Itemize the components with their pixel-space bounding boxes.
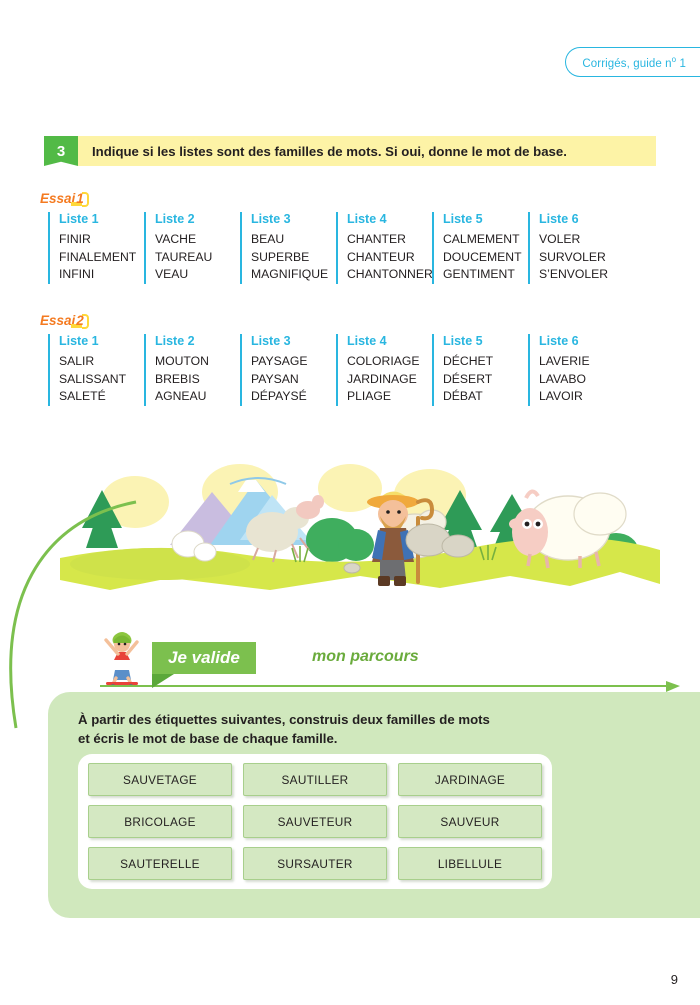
je-valide-title-ribbon: Je valide bbox=[152, 642, 256, 674]
word-list-column: Liste 4COLORIAGEJARDINAGEPLIAGE bbox=[336, 334, 432, 406]
panel-instruction: À partir des étiquettes suivantes, const… bbox=[78, 710, 598, 748]
word-list-column: Liste 2VACHETAUREAUVEAU bbox=[144, 212, 240, 284]
word-list-title: Liste 3 bbox=[251, 212, 336, 226]
word-lists-row: Liste 1SALIRSALISSANTSALETÉListe 2MOUTON… bbox=[40, 334, 660, 406]
je-valide-banner: Je valide mon parcours bbox=[100, 628, 680, 686]
word-list-item: VACHE bbox=[155, 231, 240, 249]
exercise-instruction-text: Indique si les listes sont des familles … bbox=[92, 144, 567, 159]
word-list-item: LAVERIE bbox=[539, 353, 624, 371]
panel-instruction-line1: À partir des étiquettes suivantes, const… bbox=[78, 710, 598, 729]
word-list-title: Liste 2 bbox=[155, 334, 240, 348]
exercise-instruction-bar: Indique si les listes sont des familles … bbox=[78, 136, 656, 166]
word-list-item: MAGNIFIQUE bbox=[251, 266, 336, 284]
word-list-title: Liste 4 bbox=[347, 212, 432, 226]
word-list-item: CALMEMENT bbox=[443, 231, 528, 249]
word-list-title: Liste 5 bbox=[443, 212, 528, 226]
page-number: 9 bbox=[671, 972, 678, 987]
word-list-item: PAYSAN bbox=[251, 371, 336, 389]
word-card[interactable]: SAUVETAGE bbox=[88, 763, 232, 796]
word-list-title: Liste 6 bbox=[539, 334, 624, 348]
word-list-column: Liste 3PAYSAGEPAYSANDÉPAYSÉ bbox=[240, 334, 336, 406]
word-list-title: Liste 6 bbox=[539, 212, 624, 226]
word-list-title: Liste 1 bbox=[59, 334, 144, 348]
word-list-item: BEAU bbox=[251, 231, 336, 249]
word-list-item: LAVOIR bbox=[539, 388, 624, 406]
word-list-item: DÉPAYSÉ bbox=[251, 388, 336, 406]
word-list-item: SALISSANT bbox=[59, 371, 144, 389]
shepherd-sheep-illustration bbox=[60, 440, 660, 590]
word-card[interactable]: SURSAUTER bbox=[243, 847, 387, 880]
word-list-item: TAUREAU bbox=[155, 249, 240, 267]
word-list-column: Liste 6VOLERSURVOLERS’ENVOLER bbox=[528, 212, 624, 284]
worksheet-page: Corrigés, guide no 1 3 Indique si les li… bbox=[0, 0, 700, 1005]
essai-number: 2 bbox=[75, 313, 85, 328]
essai-label-1: Essai1 bbox=[40, 191, 89, 206]
word-list-title: Liste 5 bbox=[443, 334, 528, 348]
word-list-item: INFINI bbox=[59, 266, 144, 284]
word-card[interactable]: SAUVETEUR bbox=[243, 805, 387, 838]
word-card[interactable]: SAUVEUR bbox=[398, 805, 542, 838]
word-list-item: DOUCEMENT bbox=[443, 249, 528, 267]
word-list-column: Liste 6LAVERIELAVABOLAVOIR bbox=[528, 334, 624, 406]
je-valide-subtitle: mon parcours bbox=[312, 648, 419, 666]
word-list-title: Liste 4 bbox=[347, 334, 432, 348]
word-list-item: SALETÉ bbox=[59, 388, 144, 406]
word-card[interactable]: SAUTERELLE bbox=[88, 847, 232, 880]
word-list-title: Liste 2 bbox=[155, 212, 240, 226]
word-list-item: VOLER bbox=[539, 231, 624, 249]
word-list-item: DÉCHET bbox=[443, 353, 528, 371]
word-list-column: Liste 4CHANTERCHANTEURCHANTONNER bbox=[336, 212, 432, 284]
word-list-item: GENTIMENT bbox=[443, 266, 528, 284]
word-list-column: Liste 1FINIRFINALEMENTINFINI bbox=[48, 212, 144, 284]
word-list-item: SALIR bbox=[59, 353, 144, 371]
essai-label-2: Essai2 bbox=[40, 313, 89, 328]
word-card[interactable]: BRICOLAGE bbox=[88, 805, 232, 838]
validation-panel: À partir des étiquettes suivantes, const… bbox=[48, 692, 700, 918]
word-list-item: VEAU bbox=[155, 266, 240, 284]
word-list-item: LAVABO bbox=[539, 371, 624, 389]
word-list-item: S’ENVOLER bbox=[539, 266, 624, 284]
word-list-column: Liste 2MOUTONBREBISAGNEAU bbox=[144, 334, 240, 406]
word-list-item: AGNEAU bbox=[155, 388, 240, 406]
word-list-item: SURVOLER bbox=[539, 249, 624, 267]
word-list-column: Liste 5DÉCHETDÉSERTDÉBAT bbox=[432, 334, 528, 406]
word-list-column: Liste 3BEAUSUPERBEMAGNIFIQUE bbox=[240, 212, 336, 284]
word-list-column: Liste 5CALMEMENTDOUCEMENTGENTIMENT bbox=[432, 212, 528, 284]
corner-tab-corriges: Corrigés, guide no 1 bbox=[565, 47, 700, 77]
word-list-title: Liste 1 bbox=[59, 212, 144, 226]
word-lists-row: Liste 1FINIRFINALEMENTINFINIListe 2VACHE… bbox=[40, 212, 660, 284]
panel-instruction-line2: et écris le mot de base de chaque famill… bbox=[78, 729, 598, 748]
word-list-item: CHANTER bbox=[347, 231, 432, 249]
word-cards-grid: SAUVETAGESAUTILLERJARDINAGEBRICOLAGESAUV… bbox=[88, 763, 542, 880]
word-list-item: MOUTON bbox=[155, 353, 240, 371]
exercise-header: 3 Indique si les listes sont des famille… bbox=[44, 136, 656, 166]
word-list-item: BREBIS bbox=[155, 371, 240, 389]
word-list-item: CHANTEUR bbox=[347, 249, 432, 267]
skateboarding-child-icon bbox=[100, 628, 146, 686]
word-list-item: FINALEMENT bbox=[59, 249, 144, 267]
word-list-item: PAYSAGE bbox=[251, 353, 336, 371]
word-cards-container: SAUVETAGESAUTILLERJARDINAGEBRICOLAGESAUV… bbox=[78, 754, 552, 889]
word-list-item: DÉBAT bbox=[443, 388, 528, 406]
word-list-item: CHANTONNER bbox=[347, 266, 432, 284]
word-list-item: FINIR bbox=[59, 231, 144, 249]
exercise-number-badge: 3 bbox=[44, 136, 78, 166]
word-list-title: Liste 3 bbox=[251, 334, 336, 348]
word-list-item: JARDINAGE bbox=[347, 371, 432, 389]
corner-tab-sup: o bbox=[672, 55, 677, 64]
word-list-item: COLORIAGE bbox=[347, 353, 432, 371]
je-valide-title: Je valide bbox=[168, 648, 240, 668]
corner-tab-number: 1 bbox=[680, 57, 687, 69]
essai-number: 1 bbox=[75, 191, 85, 206]
word-card[interactable]: JARDINAGE bbox=[398, 763, 542, 796]
word-list-item: DÉSERT bbox=[443, 371, 528, 389]
word-card[interactable]: SAUTILLER bbox=[243, 763, 387, 796]
corner-tab-label: Corrigés, guide no 1 bbox=[582, 55, 686, 70]
word-card[interactable]: LIBELLULE bbox=[398, 847, 542, 880]
word-list-column: Liste 1SALIRSALISSANTSALETÉ bbox=[48, 334, 144, 406]
essai-block-2: Essai2 Liste 1SALIRSALISSANTSALETÉListe … bbox=[40, 312, 660, 406]
word-list-item: PLIAGE bbox=[347, 388, 432, 406]
word-list-item: SUPERBE bbox=[251, 249, 336, 267]
essai-block-1: Essai1 Liste 1FINIRFINALEMENTINFINIListe… bbox=[40, 190, 660, 284]
